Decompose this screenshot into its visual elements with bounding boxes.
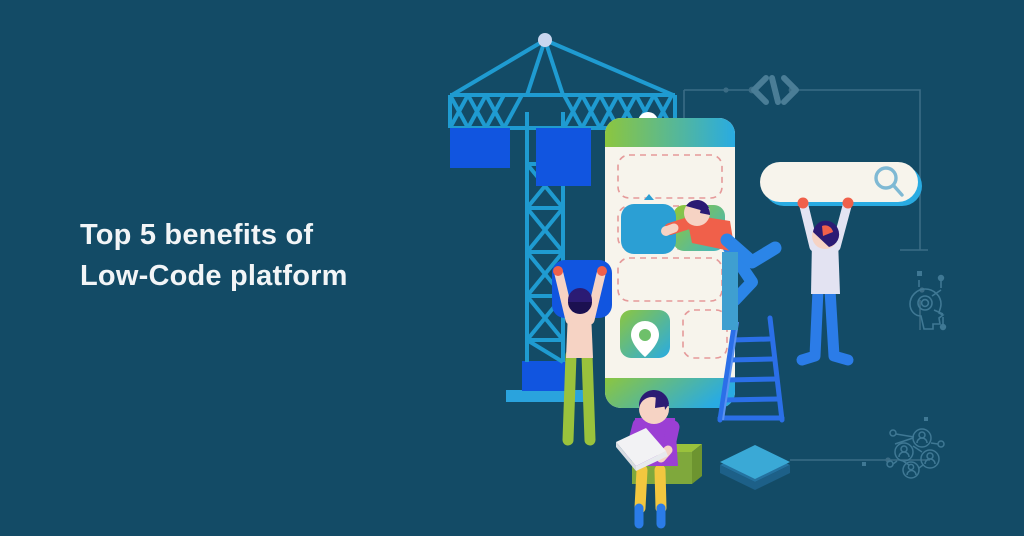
crane-apex-pulley	[538, 33, 552, 47]
hand-dot	[843, 198, 854, 209]
hand-dot	[798, 198, 809, 209]
page-title: Top 5 benefits of Low-Code platform	[80, 215, 480, 297]
title-line-2: Low-Code platform	[80, 256, 480, 297]
illustration-canvas	[430, 0, 1024, 536]
location-pin-tile	[620, 310, 670, 358]
person-with-laptop	[616, 390, 702, 524]
banner-root: Top 5 benefits of Low-Code platform	[0, 0, 1024, 536]
person-holding-search-bar	[798, 198, 854, 361]
users-network-icon	[862, 417, 944, 478]
illustration	[430, 0, 1024, 536]
hand-dot	[553, 266, 563, 276]
isometric-block	[720, 445, 790, 490]
title-line-1: Top 5 benefits of	[80, 215, 480, 256]
hand-dot	[597, 266, 607, 276]
smartphone-app-canvas	[605, 118, 735, 408]
ai-brain-head-icon	[910, 271, 945, 329]
search-bar[interactable]	[760, 162, 922, 206]
